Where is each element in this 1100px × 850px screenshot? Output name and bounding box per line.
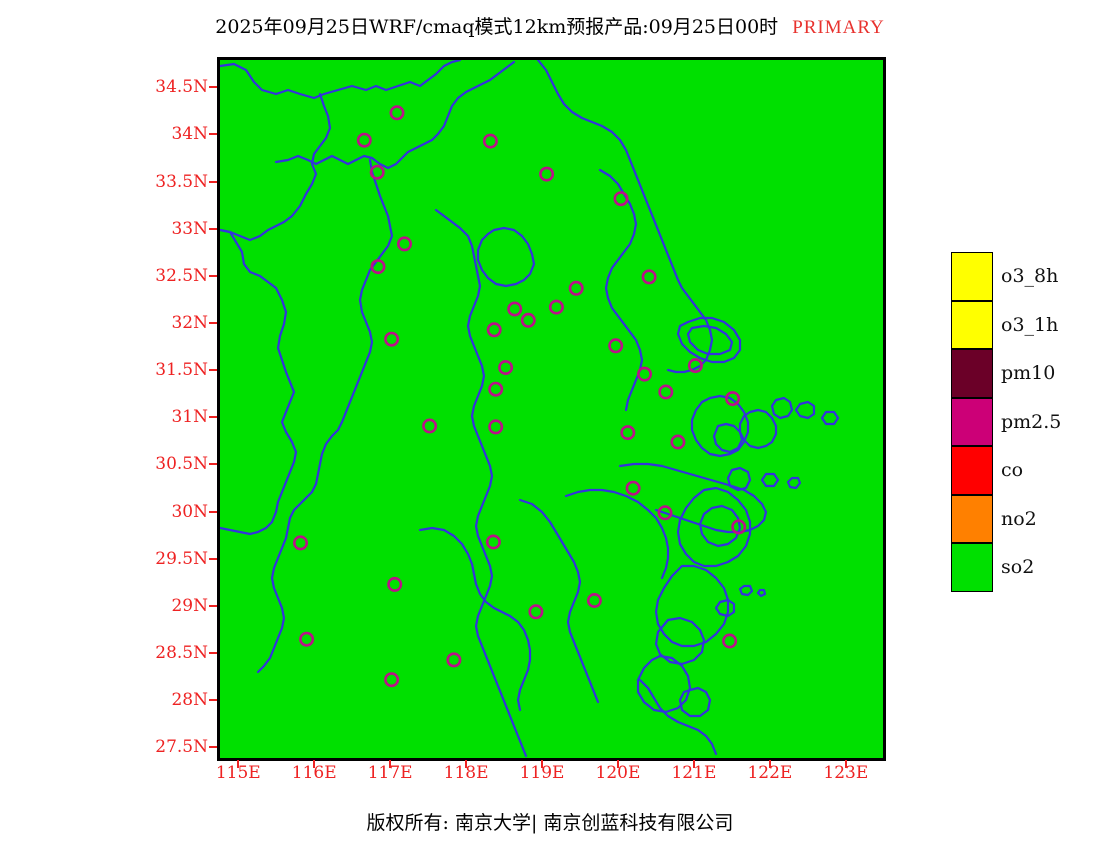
station-marker[interactable] bbox=[294, 537, 306, 549]
station-marker[interactable] bbox=[385, 333, 397, 345]
y-axis-tick-mark bbox=[209, 133, 217, 135]
legend-color-swatch bbox=[951, 301, 993, 350]
x-axis-tick-mark bbox=[541, 760, 543, 768]
y-axis-tick-label: 33.5N bbox=[120, 172, 208, 192]
station-marker[interactable] bbox=[398, 238, 410, 250]
legend-color-swatch bbox=[951, 349, 993, 398]
y-axis-tick-mark bbox=[209, 228, 217, 230]
legend-item[interactable]: pm10 bbox=[951, 349, 993, 398]
station-marker[interactable] bbox=[643, 271, 655, 283]
station-marker[interactable] bbox=[488, 324, 500, 336]
y-axis-tick-mark bbox=[209, 746, 217, 748]
legend-item-label: o3_1h bbox=[1001, 314, 1058, 336]
station-marker[interactable] bbox=[509, 303, 521, 315]
legend-item[interactable]: o3_8h bbox=[951, 252, 993, 301]
y-axis-tick-label: 33N bbox=[120, 219, 208, 239]
legend-item[interactable]: co bbox=[951, 446, 993, 495]
x-axis-tick-mark bbox=[313, 760, 315, 768]
y-axis-tick-mark bbox=[209, 463, 217, 465]
station-marker[interactable] bbox=[530, 606, 542, 618]
y-axis-tick-label: 28.5N bbox=[120, 643, 208, 663]
legend-item-label: so2 bbox=[1001, 556, 1034, 578]
y-axis-tick-mark bbox=[209, 86, 217, 88]
legend-item-label: pm10 bbox=[1001, 362, 1055, 384]
legend-color-swatch bbox=[951, 398, 993, 447]
station-markers bbox=[294, 107, 745, 686]
title-primary-flag: PRIMARY bbox=[792, 17, 885, 38]
legend-color-swatch bbox=[951, 252, 993, 301]
legend-item[interactable]: so2 bbox=[951, 543, 993, 592]
station-marker[interactable] bbox=[627, 482, 639, 494]
station-marker[interactable] bbox=[385, 674, 397, 686]
y-axis-tick-mark bbox=[209, 652, 217, 654]
x-axis-tick-mark bbox=[693, 760, 695, 768]
y-axis-tick-mark bbox=[209, 511, 217, 513]
station-marker[interactable] bbox=[423, 420, 435, 432]
y-axis-tick-mark bbox=[209, 416, 217, 418]
legend-item-label: co bbox=[1001, 459, 1023, 481]
legend-item-label: pm2.5 bbox=[1001, 411, 1061, 433]
station-marker[interactable] bbox=[484, 135, 496, 147]
map-vector-layer bbox=[220, 60, 883, 758]
legend-color-swatch bbox=[951, 543, 993, 592]
station-marker[interactable] bbox=[622, 426, 634, 438]
legend-item[interactable]: pm2.5 bbox=[951, 398, 993, 447]
y-axis-tick-label: 29N bbox=[120, 596, 208, 616]
legend-item[interactable]: no2 bbox=[951, 495, 993, 544]
station-marker[interactable] bbox=[300, 633, 312, 645]
legend: o3_8ho3_1hpm10pm2.5cono2so2 bbox=[951, 252, 993, 592]
legend-item[interactable]: o3_1h bbox=[951, 301, 993, 350]
y-axis-tick-mark bbox=[209, 322, 217, 324]
y-axis-tick-label: 31N bbox=[120, 407, 208, 427]
station-marker[interactable] bbox=[499, 361, 511, 373]
y-axis-tick-label: 28N bbox=[120, 690, 208, 710]
province-boundaries bbox=[220, 60, 838, 756]
station-marker[interactable] bbox=[358, 134, 370, 146]
station-marker[interactable] bbox=[610, 340, 622, 352]
station-marker[interactable] bbox=[391, 107, 403, 119]
y-axis-tick-label: 34.5N bbox=[120, 77, 208, 97]
station-marker[interactable] bbox=[540, 168, 552, 180]
x-axis-tick-mark bbox=[389, 760, 391, 768]
x-axis-tick-mark bbox=[617, 760, 619, 768]
x-axis-tick-mark bbox=[769, 760, 771, 768]
station-marker[interactable] bbox=[588, 594, 600, 606]
y-axis-tick-label: 32N bbox=[120, 313, 208, 333]
y-axis-tick-mark bbox=[209, 699, 217, 701]
y-axis-tick-mark bbox=[209, 181, 217, 183]
y-axis-tick-label: 30N bbox=[120, 502, 208, 522]
legend-item-label: o3_8h bbox=[1001, 265, 1058, 287]
y-axis-tick-mark bbox=[209, 605, 217, 607]
station-marker[interactable] bbox=[522, 314, 534, 326]
copyright-footer: 版权所有: 南京大学| 南京创蓝科技有限公司 bbox=[0, 808, 1100, 835]
y-axis-tick-mark bbox=[209, 369, 217, 371]
x-axis-tick-mark bbox=[465, 760, 467, 768]
y-axis-tick-label: 27.5N bbox=[120, 737, 208, 757]
station-marker[interactable] bbox=[389, 578, 401, 590]
station-marker[interactable] bbox=[448, 654, 460, 666]
station-marker[interactable] bbox=[660, 386, 672, 398]
y-axis-tick-label: 30.5N bbox=[120, 454, 208, 474]
legend-item-label: no2 bbox=[1001, 508, 1037, 530]
station-marker[interactable] bbox=[550, 301, 562, 313]
y-axis-tick-mark bbox=[209, 558, 217, 560]
x-axis-tick-mark bbox=[845, 760, 847, 768]
y-axis-tick-label: 31.5N bbox=[120, 360, 208, 380]
station-marker[interactable] bbox=[638, 368, 650, 380]
x-axis-tick-mark bbox=[237, 760, 239, 768]
y-axis-tick-mark bbox=[209, 275, 217, 277]
map-canvas[interactable] bbox=[217, 57, 886, 761]
page-title: 2025年09月25日WRF/cmaq模式12km预报产品:09月25日00时P… bbox=[0, 12, 1100, 39]
station-marker[interactable] bbox=[723, 635, 735, 647]
title-main-text: 2025年09月25日WRF/cmaq模式12km预报产品:09月25日00时 bbox=[215, 16, 778, 38]
station-marker[interactable] bbox=[672, 436, 684, 448]
station-marker[interactable] bbox=[490, 383, 502, 395]
y-axis-tick-label: 34N bbox=[120, 124, 208, 144]
y-axis-tick-label: 29.5N bbox=[120, 549, 208, 569]
station-marker[interactable] bbox=[487, 536, 499, 548]
station-marker[interactable] bbox=[615, 193, 627, 205]
legend-color-swatch bbox=[951, 446, 993, 495]
station-marker[interactable] bbox=[570, 282, 582, 294]
legend-color-swatch bbox=[951, 495, 993, 544]
y-axis-tick-label: 32.5N bbox=[120, 266, 208, 286]
station-marker[interactable] bbox=[490, 421, 502, 433]
